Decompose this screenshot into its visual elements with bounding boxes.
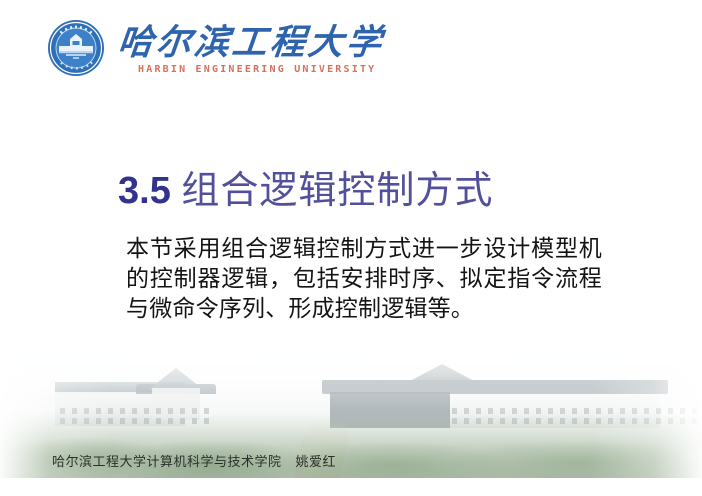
footer: 哈尔滨工程大学计算机科学与技术学院姚爱红 <box>52 454 336 470</box>
left-building-windows-row-1 <box>60 408 209 414</box>
bottom-white-margin <box>0 478 702 496</box>
body-paragraph: 本节采用组合逻辑控制方式进一步设计模型机的控制器逻辑，包括安排时序、拟定指令流程… <box>126 234 602 324</box>
university-name-en: HARBIN ENGINEERING UNIVERSITY <box>118 64 384 76</box>
left-tower-body <box>152 388 200 420</box>
main-building-windows-row-1 <box>452 408 702 414</box>
footer-department: 哈尔滨工程大学计算机科学与技术学院 <box>52 454 282 469</box>
left-tower-roof <box>148 368 204 390</box>
page-title: 3.5 组合逻辑控制方式 <box>118 168 493 214</box>
title-section-number: 3.5 <box>118 170 171 212</box>
slide-canvas: 哈尔滨工程大学 HARBIN ENGINEERING UNIVERSITY 3.… <box>0 0 702 496</box>
main-building <box>330 394 660 428</box>
main-building-windows-row-2 <box>452 418 702 424</box>
left-building-roof <box>55 382 185 394</box>
university-name-cn: 哈尔滨工程大学 <box>116 23 386 63</box>
university-logo: 哈尔滨工程大学 HARBIN ENGINEERING UNIVERSITY <box>46 18 384 78</box>
footer-author: 姚爱红 <box>296 454 337 469</box>
main-building-tower <box>408 364 476 382</box>
title-text: 组合逻辑控制方式 <box>181 170 493 212</box>
left-building <box>55 392 185 426</box>
left-building-windows-row-2 <box>60 418 209 424</box>
main-building-roof <box>322 380 668 394</box>
university-seal-icon <box>46 18 106 78</box>
main-building-left-wing <box>330 392 450 428</box>
left-tower-lower-roof <box>136 384 216 394</box>
university-wordmark: 哈尔滨工程大学 HARBIN ENGINEERING UNIVERSITY <box>118 21 384 76</box>
